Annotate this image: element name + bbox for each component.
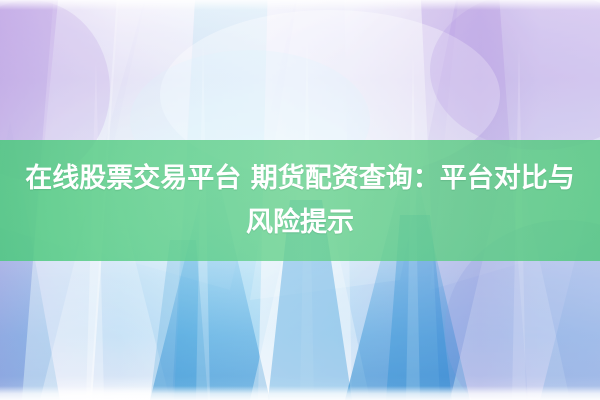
top-edge-fade bbox=[0, 0, 600, 10]
page-title-line-2: 险提示 bbox=[273, 207, 354, 238]
headline-band: 在线股票交易平台 期货配资查询：平台对比与风险提示 bbox=[0, 140, 600, 261]
page-title: 在线股票交易平台 期货配资查询：平台对比与风险提示 bbox=[0, 157, 600, 245]
article-header-banner: 在线股票交易平台 期货配资查询：平台对比与风险提示 bbox=[0, 0, 600, 400]
bottom-edge-fade bbox=[0, 386, 600, 400]
